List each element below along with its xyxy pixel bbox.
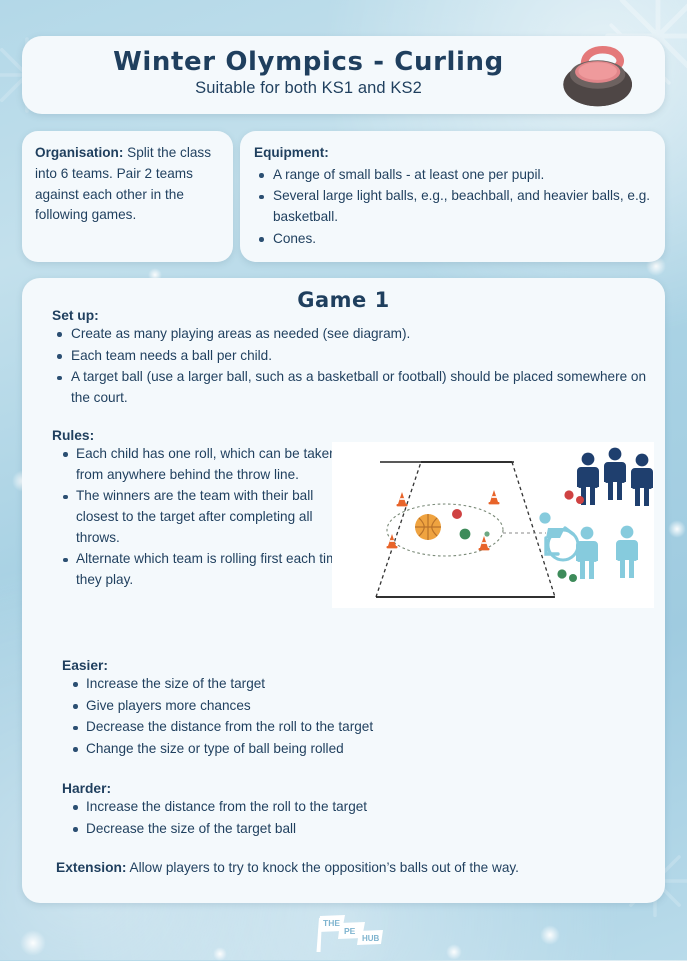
list-item: Several large light balls, e.g., beachba… — [254, 186, 651, 227]
setup-label: Set up: — [52, 308, 647, 323]
easier-section: Easier: Increase the size of the target … — [62, 658, 622, 761]
setup-section: Set up: Create as many playing areas as … — [52, 308, 647, 410]
curling-stone-icon — [545, 41, 647, 113]
logo-hub-text: HUB — [362, 934, 380, 943]
logo-the-text: THE — [323, 918, 340, 928]
list-item: Each child has one roll, which can be ta… — [52, 444, 352, 485]
game-court-diagram — [332, 442, 654, 608]
header-card: Winter Olympics - Curling Suitable for b… — [22, 36, 665, 114]
extension-text: Allow players to try to knock the opposi… — [127, 860, 519, 875]
harder-label: Harder: — [62, 781, 622, 796]
list-item: A range of small balls - at least one pe… — [254, 165, 651, 186]
game-card: Game 1 Set up: Create as many playing ar… — [22, 278, 665, 903]
red-ball — [452, 509, 462, 519]
extension-section: Extension: Allow players to try to knock… — [56, 858, 641, 879]
green-ball — [460, 529, 471, 540]
list-item: The winners are the team with their ball… — [52, 486, 352, 548]
list-item: Change the size or type of ball being ro… — [62, 739, 622, 760]
rules-label: Rules: — [52, 428, 352, 443]
extension-label: Extension: — [56, 860, 127, 875]
list-item: Decrease the size of the target ball — [62, 819, 622, 840]
list-item: Create as many playing areas as needed (… — [52, 324, 647, 345]
list-item: Each team needs a ball per child. — [52, 346, 647, 367]
list-item: Cones. — [254, 229, 651, 250]
equipment-card: Equipment: A range of small balls - at l… — [240, 131, 665, 262]
list-item: Increase the size of the target — [62, 674, 622, 695]
rules-section: Rules: Each child has one roll, which ca… — [52, 428, 352, 592]
the-pe-hub-logo: THE PE HUB — [307, 912, 387, 952]
equipment-label: Equipment: — [254, 143, 651, 164]
list-item: Increase the distance from the roll to t… — [62, 797, 622, 818]
harder-section: Harder: Increase the distance from the r… — [62, 781, 622, 840]
organisation-label: Organisation: — [35, 145, 123, 160]
easier-label: Easier: — [62, 658, 622, 673]
list-item: Alternate which team is rolling first ea… — [52, 549, 352, 590]
list-item: Decrease the distance from the roll to t… — [62, 717, 622, 738]
equipment-list: A range of small balls - at least one pe… — [254, 165, 651, 250]
logo-pe-text: PE — [344, 926, 356, 936]
organisation-card: Organisation: Split the class into 6 tea… — [22, 131, 233, 262]
basketball-target — [415, 514, 441, 540]
list-item: Give players more chances — [62, 696, 622, 717]
list-item: A target ball (use a larger ball, such a… — [52, 367, 647, 408]
harder-list: Increase the distance from the roll to t… — [62, 797, 622, 839]
rules-list: Each child has one roll, which can be ta… — [52, 444, 352, 591]
setup-list: Create as many playing areas as needed (… — [52, 324, 647, 409]
easier-list: Increase the size of the target Give pla… — [62, 674, 622, 760]
